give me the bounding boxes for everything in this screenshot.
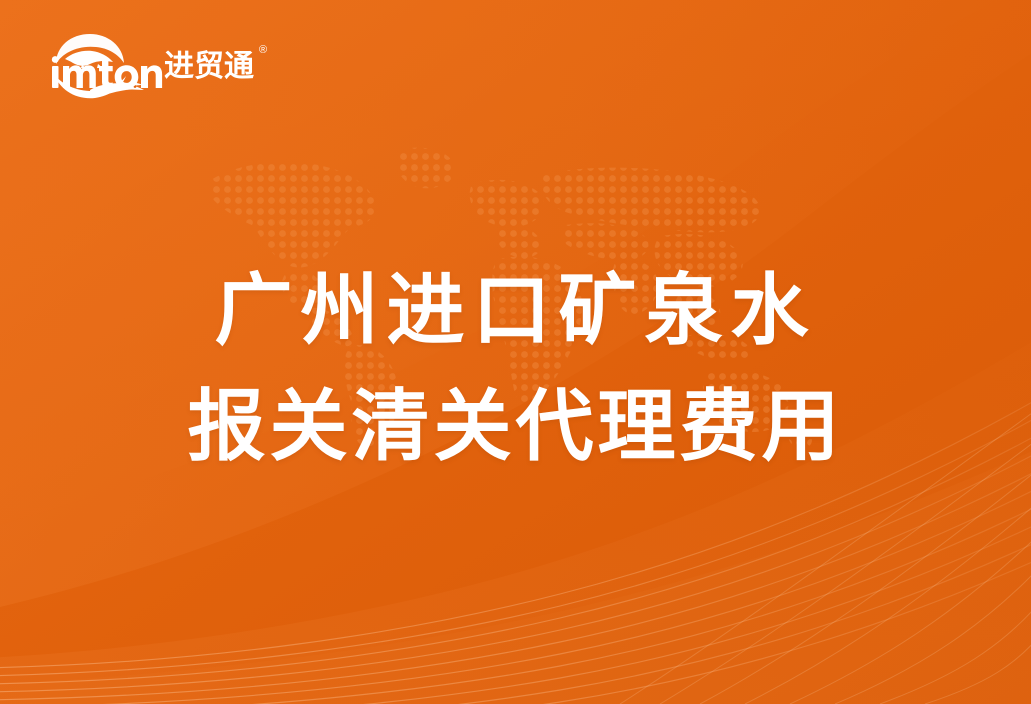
promo-banner: imton 进贸通 进贸通 ® 广州进口矿泉水 报关清关代理费用 xyxy=(0,0,1031,704)
hero-title-block: 广州进口矿泉水 报关清关代理费用 xyxy=(0,252,1031,484)
hero-title-line-1: 广州进口矿泉水 xyxy=(0,252,1031,368)
brand-logo[interactable]: imton 进贸通 进贸通 ® xyxy=(38,28,218,100)
trademark-symbol: ® xyxy=(259,44,267,56)
logo-cn-wordmark: 进贸通 ® xyxy=(164,50,284,84)
logo-cn-characters: 进贸通 xyxy=(164,50,254,83)
hero-title-line-2: 报关清关代理费用 xyxy=(0,368,1031,484)
